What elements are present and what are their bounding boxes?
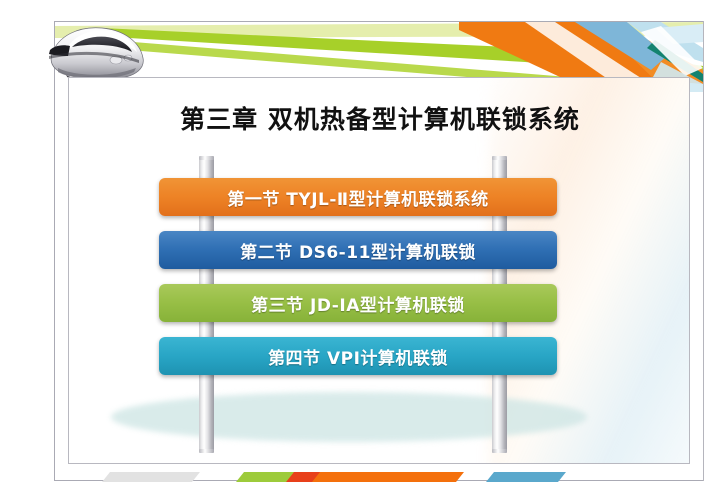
- presentation-slide: 第三章 双机热备型计算机联锁系统 第一节 TYJL-Ⅱ型计算机联锁系统 第二节 …: [0, 0, 713, 504]
- slide-content-frame: 第三章 双机热备型计算机联锁系统 第一节 TYJL-Ⅱ型计算机联锁系统 第二节 …: [68, 77, 690, 464]
- section-item-3[interactable]: 第三节 JD-IA型计算机联锁: [159, 284, 557, 322]
- accent-orange: [312, 472, 464, 482]
- accent-gray: [102, 472, 200, 482]
- accent-blue: [486, 472, 566, 482]
- section-item-4[interactable]: 第四节 VPI计算机联锁: [159, 337, 557, 375]
- section-label-2: 第二节 DS6-11型计算机联锁: [240, 238, 476, 263]
- section-label-1: 第一节 TYJL-Ⅱ型计算机联锁系统: [227, 185, 488, 210]
- section-item-2[interactable]: 第二节 DS6-11型计算机联锁: [159, 231, 557, 269]
- section-item-1[interactable]: 第一节 TYJL-Ⅱ型计算机联锁系统: [159, 178, 557, 216]
- bottom-accent-strip: [54, 470, 704, 484]
- bottom-strip-svg: [54, 470, 704, 484]
- section-label-3: 第三节 JD-IA型计算机联锁: [251, 291, 465, 316]
- page-right-edge: [703, 21, 704, 481]
- page-title: 第三章 双机热备型计算机联锁系统: [69, 100, 690, 136]
- section-label-4: 第四节 VPI计算机联锁: [268, 344, 448, 369]
